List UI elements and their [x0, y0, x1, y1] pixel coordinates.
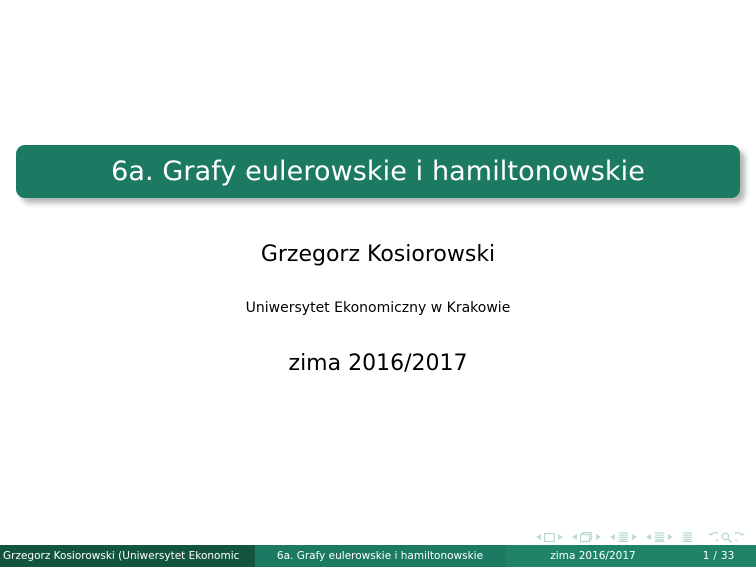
search-icon[interactable]: [721, 532, 732, 543]
forward-icon[interactable]: [735, 532, 746, 543]
section-nav-group[interactable]: [646, 532, 673, 542]
frame-nav-group[interactable]: [572, 532, 601, 543]
footer-page-current: 1: [703, 550, 710, 562]
subsection-icon[interactable]: [618, 532, 629, 542]
subsection-nav-group[interactable]: [610, 532, 637, 542]
footer-date: zima 2016/2017: [505, 545, 681, 567]
author-name: Grzegorz Kosiorowski: [0, 243, 756, 267]
prev-frame-icon[interactable]: [572, 534, 577, 540]
slide-nav-group[interactable]: [536, 533, 563, 542]
footer-page-number: 1 / 33: [681, 545, 756, 567]
doc-icon[interactable]: [682, 532, 693, 542]
prev-subsection-icon[interactable]: [610, 534, 615, 540]
institute-name: Uniwersytet Ekonomiczny w Krakowie: [0, 301, 756, 316]
next-section-icon[interactable]: [668, 534, 673, 540]
footer-bar: Grzegorz Kosiorowski (Uniwersytet Ekonom…: [0, 545, 756, 567]
footer-title-label: 6a. Grafy eulerowskie i hamiltonowskie: [277, 550, 483, 562]
page-title: 6a. Grafy eulerowskie i hamiltonowskie: [111, 158, 645, 185]
footer-author: Grzegorz Kosiorowski (Uniwersytet Ekonom…: [0, 545, 255, 567]
next-subsection-icon[interactable]: [632, 534, 637, 540]
section-icon[interactable]: [654, 532, 665, 542]
footer-page-total: 33: [721, 550, 734, 562]
beamer-navigation-symbols[interactable]: [536, 529, 746, 545]
slide-icon[interactable]: [544, 533, 555, 542]
footer-date-label: zima 2016/2017: [550, 550, 635, 562]
frame-icon[interactable]: [580, 532, 593, 543]
prev-slide-icon[interactable]: [536, 534, 541, 540]
title-block: 6a. Grafy eulerowskie i hamiltonowskie: [16, 145, 740, 198]
presentation-date: zima 2016/2017: [0, 352, 756, 376]
back-icon[interactable]: [707, 532, 718, 543]
next-frame-icon[interactable]: [596, 534, 601, 540]
prev-section-icon[interactable]: [646, 534, 651, 540]
footer-page-separator: /: [713, 550, 717, 562]
next-slide-icon[interactable]: [558, 534, 563, 540]
footer-author-label: Grzegorz Kosiorowski (Uniwersytet Ekonom…: [3, 550, 239, 562]
footer-title: 6a. Grafy eulerowskie i hamiltonowskie: [255, 545, 505, 567]
